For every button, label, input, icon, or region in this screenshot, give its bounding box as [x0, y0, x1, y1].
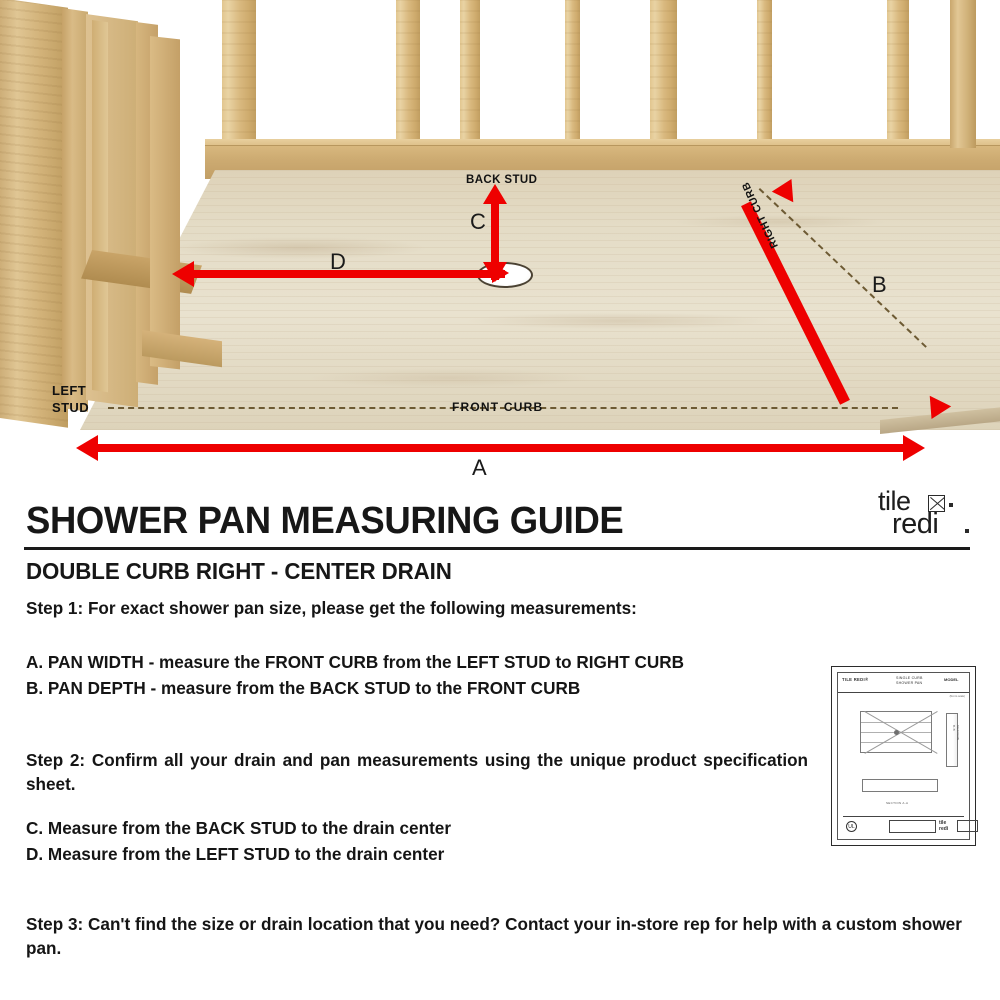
left-wall-outer-post: [0, 0, 68, 428]
dimension-arrow-a-head-left: [76, 435, 98, 461]
back-wall-stud: [396, 0, 420, 149]
dimension-arrow-a-head-right: [903, 435, 925, 461]
spec-plan-view-drawing: [860, 711, 932, 753]
label-left-stud-line1: LEFT: [52, 382, 89, 399]
spec-section-bb-caption: SECTION B-B: [952, 725, 960, 740]
spec-product-text: SINGLE CURB SHOWER PAN: [896, 676, 923, 686]
spec-footer-title-block: [889, 820, 936, 833]
dimension-arrow-d-line: [190, 270, 505, 278]
back-wall-stud: [565, 0, 580, 149]
back-wall-stud: [757, 0, 772, 149]
spec-brand-text: TILE REDI®: [842, 677, 868, 682]
label-left-stud: LEFT STUD: [52, 382, 89, 416]
dimension-arrow-d-head-left: [172, 261, 194, 287]
spec-product-line2: SHOWER PAN: [896, 681, 923, 686]
back-wall-stud: [460, 0, 480, 149]
ul-listing-icon: UL: [846, 821, 857, 832]
page-title: SHOWER PAN MEASURING GUIDE: [26, 500, 623, 543]
dimension-arrow-a-line: [98, 444, 903, 452]
right-wall-post: [950, 0, 976, 148]
page-subtitle: DOUBLE CURB RIGHT - CENTER DRAIN: [26, 558, 452, 585]
label-left-stud-line2: STUD: [52, 399, 89, 416]
specification-sheet-thumbnail: TILE REDI® SINGLE CURB SHOWER PAN MODEL …: [831, 666, 976, 846]
tile-redi-logo: tile redi: [872, 486, 984, 540]
logo-dot-lower: [965, 529, 969, 533]
shower-framing-photo: BACK STUD FRONT CURB LEFT STUD RIGHT CUR…: [0, 0, 1000, 480]
spec-scale-note: (Not to scale): [950, 695, 965, 698]
dimension-arrow-c-head-top: [483, 184, 507, 204]
step-1-text: Step 1: For exact shower pan size, pleas…: [26, 598, 637, 619]
logo-dot-upper: [949, 503, 953, 507]
spec-section-aa-caption: SECTION A-A: [886, 801, 908, 805]
back-wall-stud: [887, 0, 909, 149]
dimension-letter-c: C: [470, 209, 486, 235]
logo-text-redi: redi: [892, 508, 938, 541]
spec-footer-logo: tile redi: [939, 820, 948, 832]
spec-sheet-border: TILE REDI® SINGLE CURB SHOWER PAN MODEL …: [837, 672, 970, 840]
spec-elevation-view-drawing: [862, 779, 938, 792]
spec-model-label: MODEL: [944, 677, 958, 682]
spec-plan-gridline: [861, 722, 931, 723]
instructions-section: SHOWER PAN MEASURING GUIDE DOUBLE CURB R…: [0, 480, 1000, 1000]
left-wall-inner-post: [62, 8, 88, 412]
label-front-curb: FRONT CURB: [452, 400, 543, 414]
label-back-stud: BACK STUD: [466, 174, 537, 186]
spec-sheet-header: TILE REDI® SINGLE CURB SHOWER PAN MODEL: [838, 673, 969, 693]
measurement-item-a: A. PAN WIDTH - measure the FRONT CURB fr…: [26, 652, 684, 673]
dimension-letter-b: B: [872, 272, 887, 298]
step-2-text: Step 2: Confirm all your drain and pan m…: [26, 748, 808, 796]
measurement-item-b: B. PAN DEPTH - measure from the BACK STU…: [26, 678, 580, 699]
spec-sheet-footer: UL tile redi: [843, 816, 964, 834]
dimension-letter-a: A: [472, 455, 487, 480]
left-wall-corner-post: [150, 36, 180, 369]
title-divider: [24, 547, 970, 550]
left-wall-framing: [0, 0, 300, 430]
left-wall-stud: [92, 20, 108, 392]
measurement-item-d: D. Measure from the LEFT STUD to the dra…: [26, 844, 444, 865]
step-3-text: Step 3: Can't find the size or drain loc…: [26, 912, 962, 960]
dimension-arrow-d-head-right: [492, 263, 509, 283]
spec-drain-symbol: [894, 730, 899, 735]
shower-pan-measuring-guide-page: BACK STUD FRONT CURB LEFT STUD RIGHT CUR…: [0, 0, 1000, 1000]
spec-footer-sheet-number-block: [957, 820, 978, 832]
back-wall-stud: [650, 0, 677, 149]
dimension-letter-d: D: [330, 249, 346, 275]
spec-footer-logo-line2: redi: [939, 826, 948, 832]
measurement-item-c: C. Measure from the BACK STUD to the dra…: [26, 818, 451, 839]
